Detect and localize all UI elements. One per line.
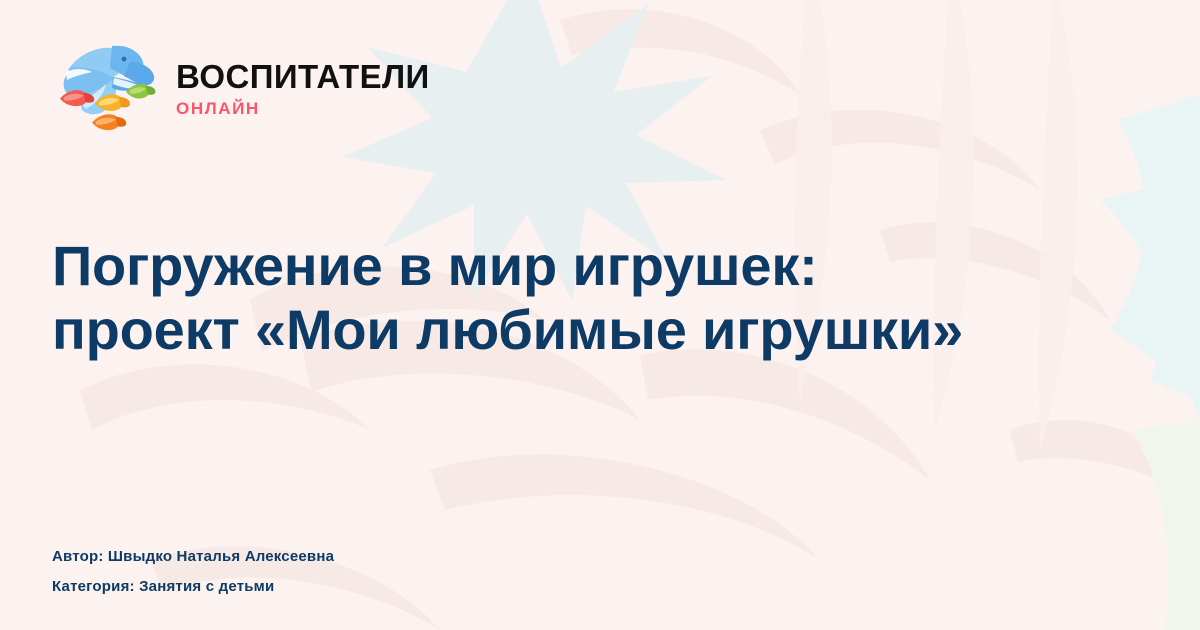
green-blob [1130, 420, 1200, 630]
category-line: Категория: Занятия с детьми [52, 572, 334, 602]
flying-birds-icon [50, 32, 162, 140]
teal-blob [1110, 95, 1200, 430]
logo-wordmark: ВОСПИТАТЕЛИ ОНЛАЙН [176, 56, 430, 117]
page-title: Погружение в мир игрушек: проект «Мои лю… [52, 234, 1122, 362]
card-meta: Автор: Швыдко Наталья Алексеевна Категор… [52, 542, 334, 602]
bird-small-orange [92, 114, 126, 130]
brand-tagline: ОНЛАЙН [176, 100, 430, 117]
brand-name: ВОСПИТАТЕЛИ [176, 60, 430, 93]
social-share-card: ВОСПИТАТЕЛИ ОНЛАЙН Погружение в мир игру… [0, 0, 1200, 630]
author-line: Автор: Швыдко Наталья Алексеевна [52, 542, 334, 572]
site-logo[interactable]: ВОСПИТАТЕЛИ ОНЛАЙН [50, 30, 430, 142]
pale-streaks [795, 0, 1078, 450]
